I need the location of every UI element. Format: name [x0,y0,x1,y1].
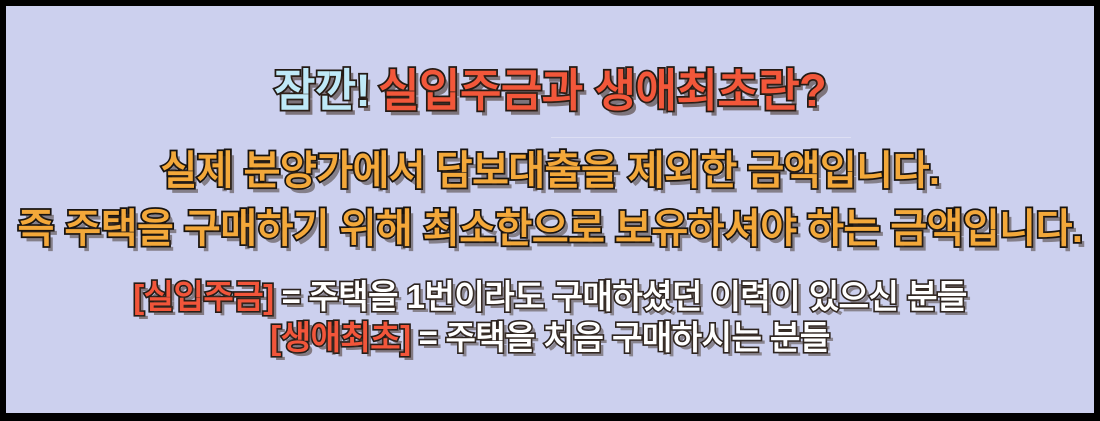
decorative-hairline [551,137,851,138]
definition-description-2: 주택을 처음 구매하시는 분들 [445,319,829,356]
title-attention-text: 잠깐! [274,65,370,116]
definition-term-1: [실입주금] [133,278,273,315]
definition-equals-1: = [282,278,301,315]
page-title: 잠깐!실입주금과 생애최초란? [6,68,1094,113]
definition-description-1: 주택을 1번이라도 구매하셨던 이력이 있으신 분들 [308,278,966,315]
definition-row-saengaechoecho: [생애최초]=주택을 처음 구매하시는 분들 [6,321,1094,354]
explanation-line-1: 실제 분양가에서 담보대출을 제외한 금액입니다. [6,151,1094,191]
definition-row-silipjugeum: [실입주금]=주택을 1번이라도 구매하셨던 이력이 있으신 분들 [6,280,1094,313]
infographic-root: 잠깐!실입주금과 생애최초란? 실제 분양가에서 담보대출을 제외한 금액입니다… [0,0,1100,421]
definition-term-2: [생애최초] [270,319,410,356]
explanation-line-2: 즉 주택을 구매하기 위해 최소한으로 보유하셔야 하는 금액입니다. [6,209,1094,249]
title-question-text: 실입주금과 생애최초란? [378,65,826,116]
definition-equals-2: = [419,319,438,356]
infographic-panel: 잠깐!실입주금과 생애최초란? 실제 분양가에서 담보대출을 제외한 금액입니다… [6,6,1094,413]
